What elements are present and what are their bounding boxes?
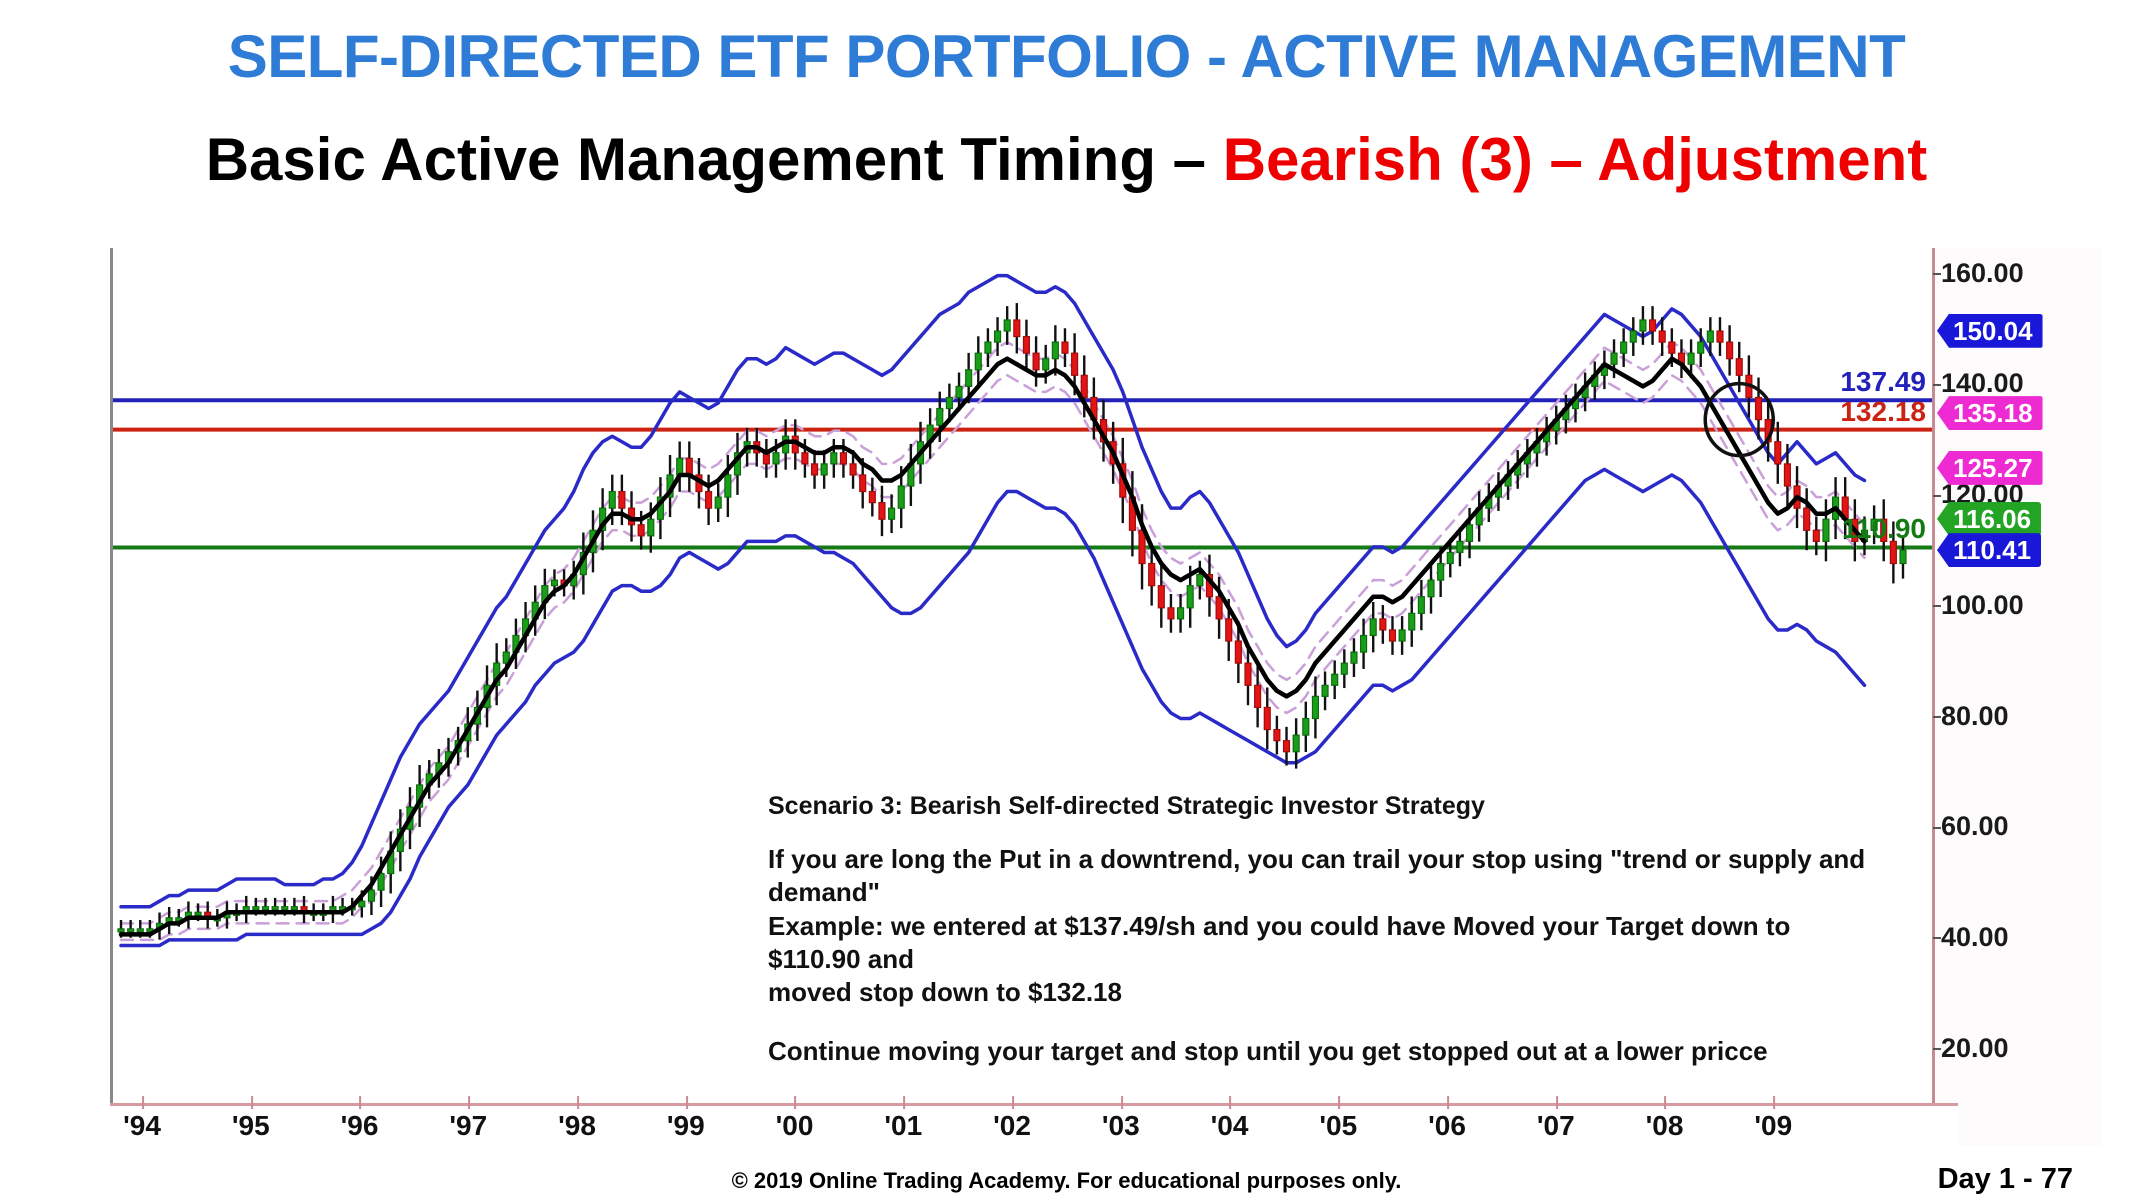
date-tick-label: '07: [1537, 1110, 1575, 1142]
date-tick-label: '04: [1211, 1110, 1249, 1142]
subtitle-accent-text: Bearish (3) – Adjustment: [1223, 126, 1928, 193]
price-badge-magenta: 125.27: [1937, 451, 2043, 485]
chart-annotation: Scenario 3: Bearish Self-directed Strate…: [768, 792, 1888, 1069]
price-badge-green: 116.06: [1937, 502, 2041, 536]
date-axis: '94'95'96'97'98'99'00'01'02'03'04'05'06'…: [110, 1103, 1958, 1149]
annotation-line-1: If you are long the Put in a downtrend, …: [768, 843, 1888, 910]
price-tick-label: 60.00: [1941, 811, 2009, 842]
price-tick-label: 20.00: [1941, 1033, 2009, 1064]
date-tick-label: '09: [1754, 1110, 1792, 1142]
annotation-line-4: Continue moving your target and stop unt…: [768, 1035, 1888, 1068]
price-badge-blue: 150.04: [1937, 314, 2043, 348]
price-badge-magenta: 135.18: [1937, 396, 2043, 430]
date-tick-label: '01: [884, 1110, 922, 1142]
level-label-entry: 137.49: [1840, 366, 1926, 398]
annotation-heading: Scenario 3: Bearish Self-directed Strate…: [768, 792, 1888, 821]
subtitle-main-text: Basic Active Management Timing –: [206, 126, 1223, 193]
level-label-stop: 132.18: [1840, 396, 1926, 428]
price-tick-label: 80.00: [1941, 701, 2009, 732]
price-tick-label: 160.00: [1941, 258, 2024, 289]
annotation-line-2: Example: we entered at $137.49/sh and yo…: [768, 910, 1888, 977]
date-tick-label: '08: [1646, 1110, 1684, 1142]
date-tick-label: '97: [449, 1110, 487, 1142]
footer-copyright: © 2019 Online Trading Academy. For educa…: [0, 1168, 2133, 1194]
date-tick-label: '00: [776, 1110, 814, 1142]
date-tick-label: '02: [993, 1110, 1031, 1142]
price-tick-label: 140.00: [1941, 368, 2024, 399]
annotation-spacer: [768, 1009, 1888, 1035]
price-tick-label: 100.00: [1941, 590, 2024, 621]
price-scale-axis: 160.00140.00120.00100.0080.0060.0040.002…: [1932, 248, 2102, 1146]
price-badge-blue: 110.41: [1937, 533, 2041, 567]
date-tick-label: '99: [667, 1110, 705, 1142]
footer-page-number: Day 1 - 77: [1938, 1163, 2073, 1196]
date-tick-label: '05: [1319, 1110, 1357, 1142]
annotation-line-3: moved stop down to $132.18: [768, 976, 1888, 1009]
page-subtitle: Basic Active Management Timing – Bearish…: [0, 125, 2133, 194]
page-title: SELF-DIRECTED ETF PORTFOLIO - ACTIVE MAN…: [0, 22, 2133, 91]
date-tick-label: '95: [232, 1110, 270, 1142]
price-tick-label: 40.00: [1941, 922, 2009, 953]
date-tick-label: '03: [1102, 1110, 1140, 1142]
date-tick-label: '98: [558, 1110, 596, 1142]
date-tick-label: '96: [341, 1110, 379, 1142]
level-label-target: 110.90: [1842, 513, 1926, 545]
date-tick-label: '06: [1428, 1110, 1466, 1142]
date-tick-label: '94: [123, 1110, 161, 1142]
